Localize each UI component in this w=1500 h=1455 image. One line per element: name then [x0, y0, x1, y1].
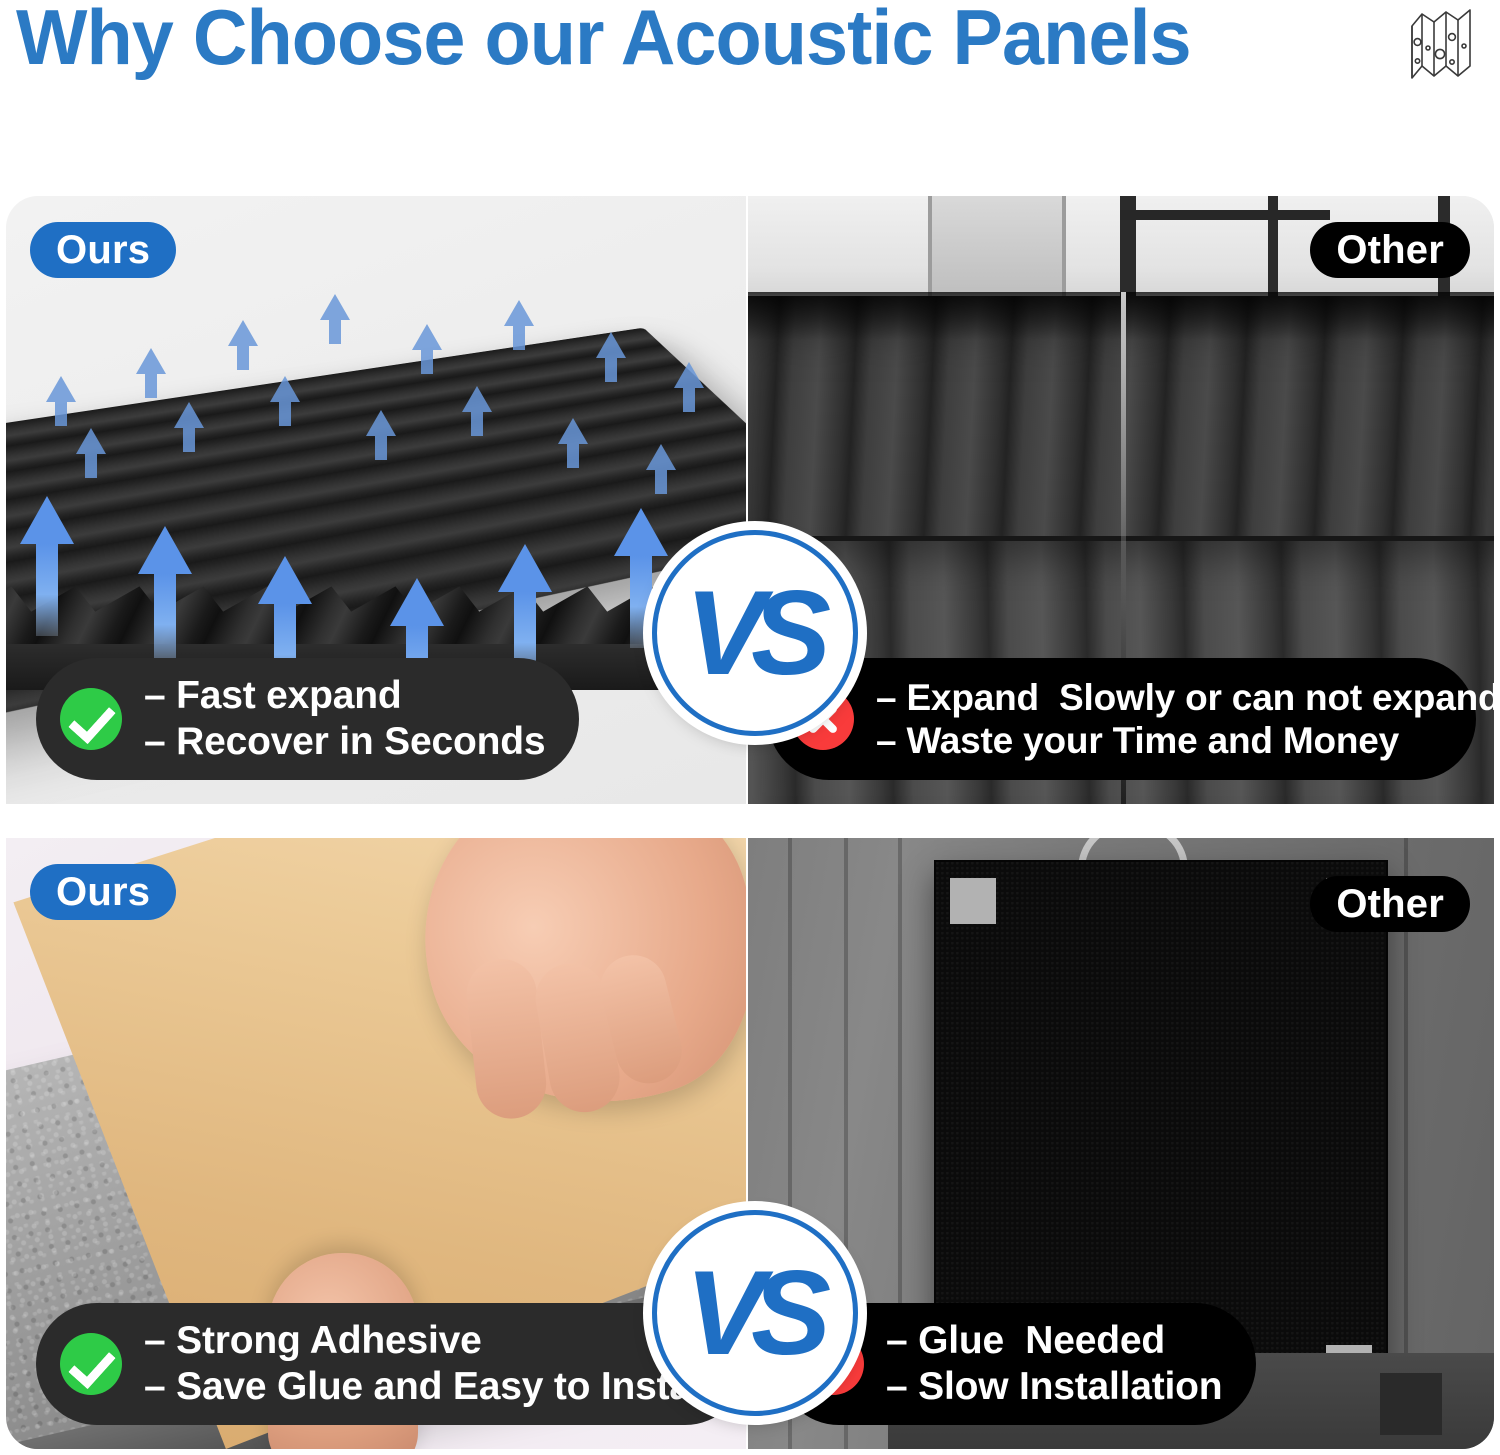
badge-ours-top: Ours — [30, 222, 176, 278]
caption-bottom-left: – Strong Adhesive – Save Glue and Easy t… — [36, 1303, 746, 1425]
dark-square-detail — [1380, 1373, 1442, 1435]
caption-top-left: – Fast expand – Recover in Seconds — [36, 658, 579, 780]
caption-line: – Save Glue and Easy to Install — [144, 1365, 712, 1409]
stand-rail — [1120, 210, 1330, 220]
caption-lines: – Expand Slowly or can not expand – Wast… — [876, 677, 1494, 762]
caption-line: – Expand Slowly or can not expand — [876, 677, 1494, 718]
caption-lines: – Fast expand – Recover in Seconds — [144, 674, 545, 763]
panel-top-left-ours: Ours – Fast expand – Recover in Seconds — [6, 196, 746, 804]
acoustic-panel-icon — [1400, 4, 1482, 90]
caption-line: – Recover in Seconds — [144, 720, 545, 764]
header: Why Choose our Acoustic Panels — [0, 0, 1500, 190]
vs-label: VS — [685, 1253, 817, 1373]
vs-label: VS — [685, 573, 817, 693]
caption-line: – Glue Needed — [886, 1319, 1222, 1363]
badge-other-bottom: Other — [1310, 876, 1470, 932]
caption-lines: – Glue Needed – Slow Installation — [886, 1319, 1222, 1408]
check-icon — [60, 1333, 122, 1395]
badge-ours-bottom: Ours — [30, 864, 176, 920]
caption-line: – Strong Adhesive — [144, 1319, 712, 1363]
panel-top-right-other: Other – Expand Slowly or can not expand … — [748, 196, 1494, 804]
caption-line: – Fast expand — [144, 674, 545, 718]
caption-top-right: – Expand Slowly or can not expand – Wast… — [768, 658, 1476, 780]
comparison-grid: Ours – Fast expand – Recover in Seconds — [0, 190, 1500, 1455]
vs-badge-top: VS — [652, 530, 858, 736]
infographic-root: Why Choose our Acoustic Panels — [0, 0, 1500, 1455]
vs-badge-bottom: VS — [652, 1210, 858, 1416]
check-icon — [60, 688, 122, 750]
panel-bottom-right-other: Other – Glue Needed – Slow Installation — [748, 838, 1494, 1449]
caption-line: – Slow Installation — [886, 1365, 1222, 1409]
caption-lines: – Strong Adhesive – Save Glue and Easy t… — [144, 1319, 712, 1408]
badge-other-top: Other — [1310, 222, 1470, 278]
panel-bottom-left-ours: Ours – Strong Adhesive – Save Glue and E… — [6, 838, 746, 1449]
page-title: Why Choose our Acoustic Panels — [16, 0, 1191, 83]
caption-line: – Waste your Time and Money — [876, 720, 1494, 761]
adhesive-square — [950, 878, 996, 924]
